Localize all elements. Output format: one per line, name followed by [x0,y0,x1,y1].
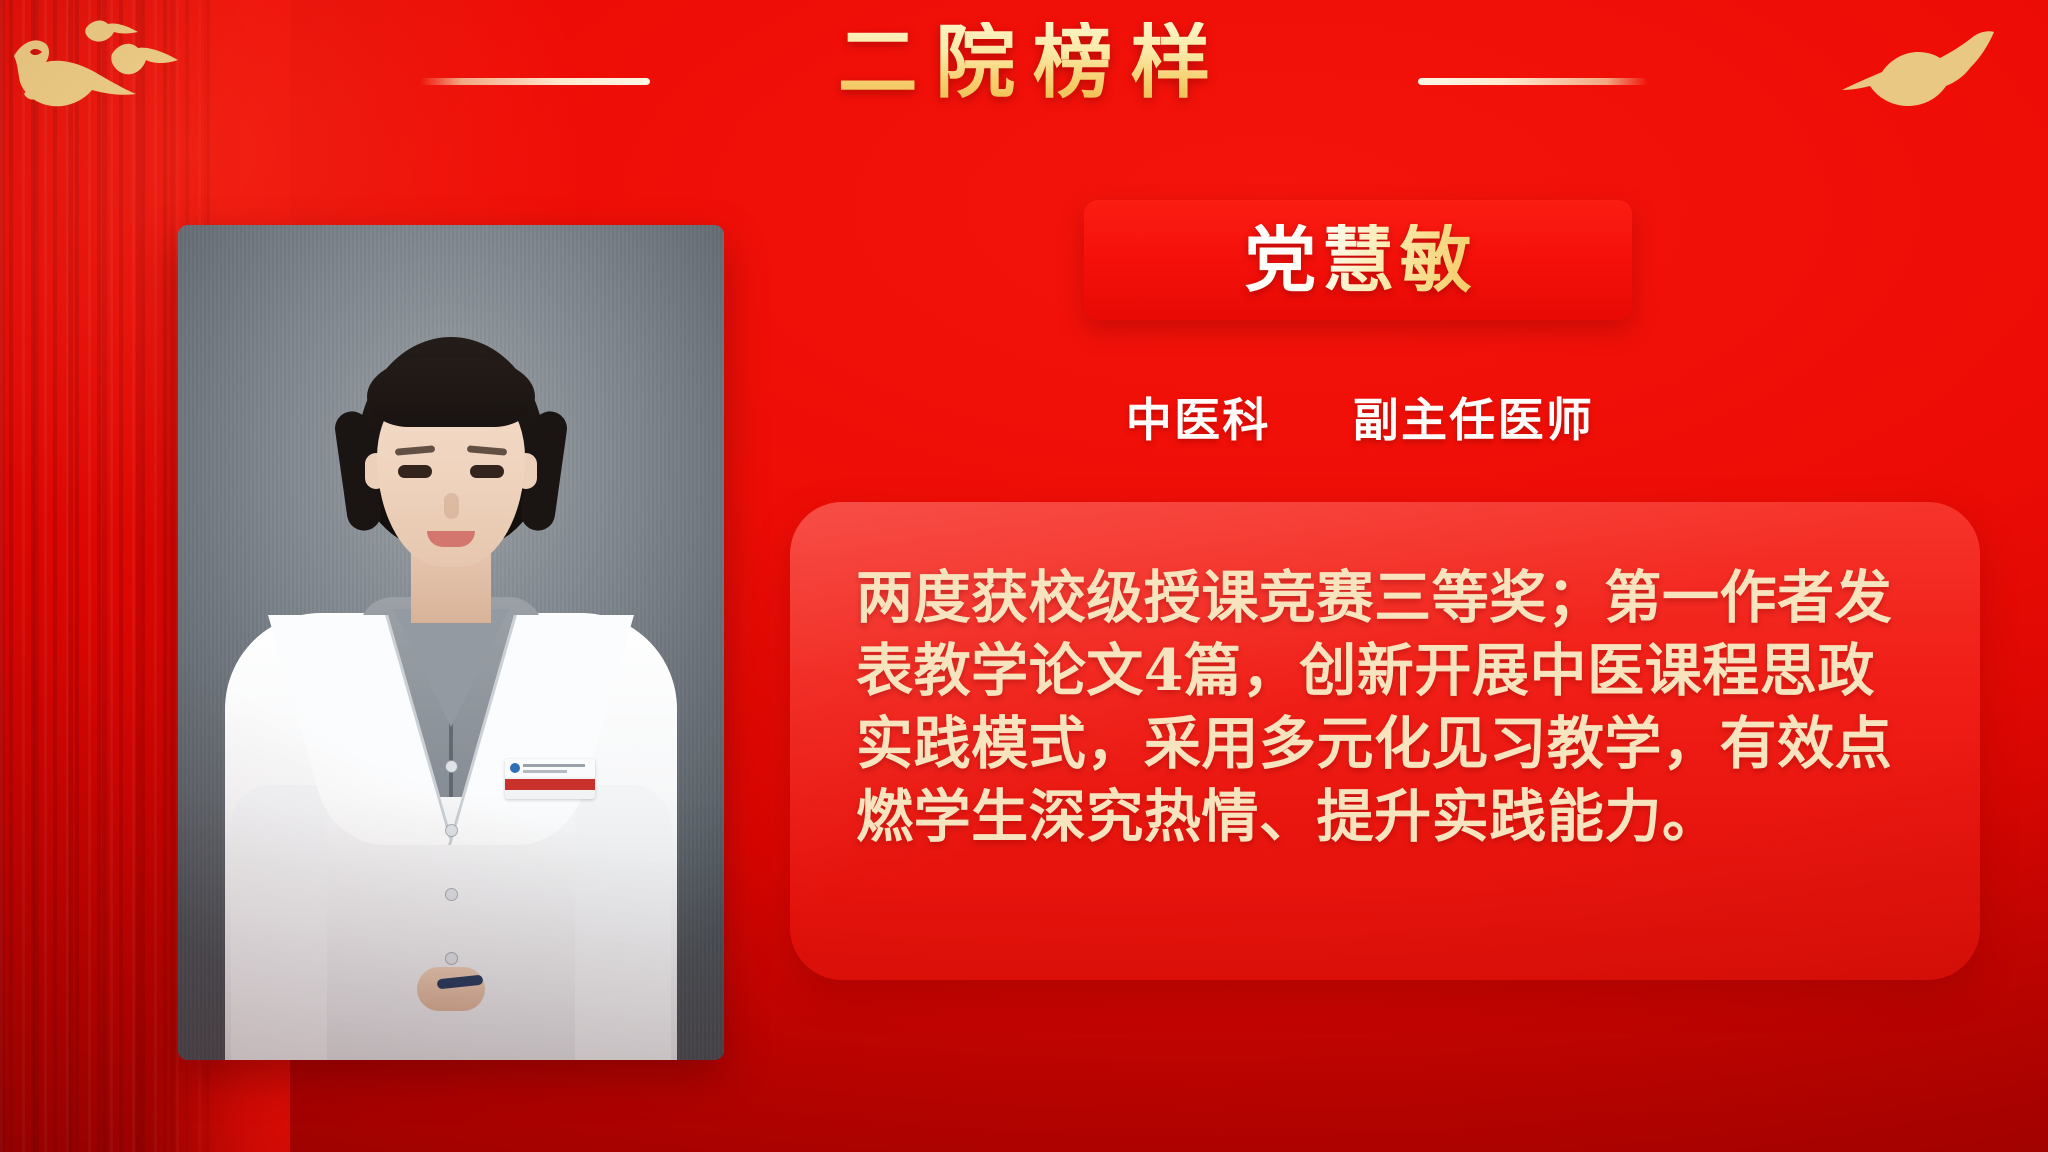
description-line: 两度获校级授课竞赛三等奖；第一作者发 [856,562,1914,635]
poster-header: 二院榜样 [0,0,2048,150]
portrait-photo [178,225,724,1060]
description-panel: 两度获校级授课竞赛三等奖；第一作者发 表教学论文4篇，创新开展中医课程思政 实践… [790,502,1980,980]
description-line: 燃学生深究热情、提升实践能力。 [856,781,1914,854]
role-row: 中医科 副主任医师 [1060,384,1660,450]
name-badge: 党慧敏 [1084,200,1632,320]
description-text: 两度获校级授课竞赛三等奖；第一作者发 表教学论文4篇，创新开展中医课程思政 实践… [856,562,1914,854]
page-title: 二院榜样 [0,22,2048,102]
poster-canvas: 二院榜样 党慧敏 [0,0,2048,1152]
description-line: 表教学论文4篇，创新开展中医课程思政 [856,635,1914,708]
description-line: 实践模式，采用多元化见习教学，有效点 [856,708,1914,781]
department-label: 中医科 [1126,384,1271,450]
portrait-shading [178,225,724,1060]
person-name: 党慧敏 [1238,224,1477,296]
position-label: 副主任医师 [1353,384,1595,450]
